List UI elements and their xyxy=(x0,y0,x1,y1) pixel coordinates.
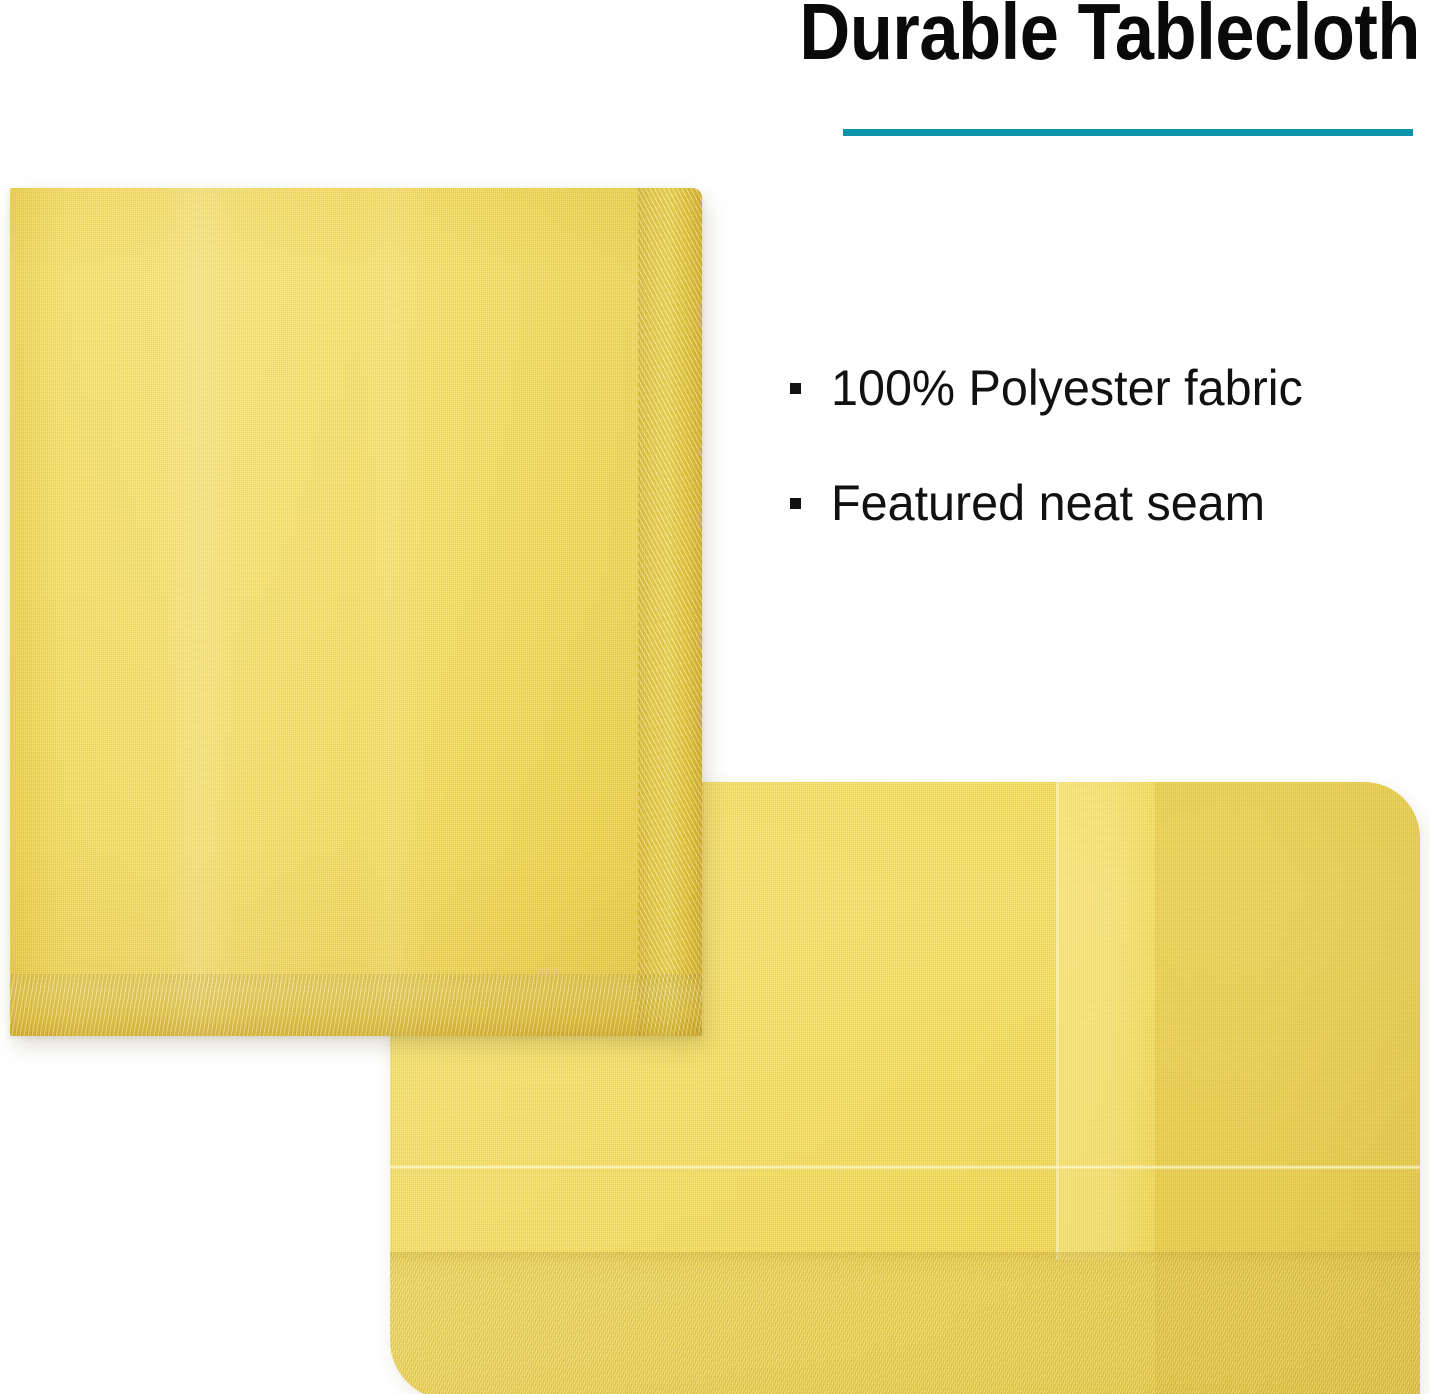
list-item: 100% Polyester fabric xyxy=(790,352,1410,424)
folded-spine-edge xyxy=(638,188,702,1036)
fabric-drape-creases xyxy=(10,188,702,1036)
feature-label: 100% Polyester fabric xyxy=(831,363,1303,413)
feature-list: 100% Polyester fabric Featured neat seam xyxy=(790,352,1410,582)
fabric-outer-shadow-band xyxy=(1155,782,1420,1394)
fabric-twill-texture xyxy=(638,188,702,1036)
fabric-twill-texture xyxy=(10,974,702,1036)
fabric-hem-highlight-panel xyxy=(1059,782,1155,1260)
feature-label: Featured neat seam xyxy=(831,478,1265,528)
square-bullet-icon xyxy=(790,383,801,394)
folded-bottom-roll-edge xyxy=(10,974,702,1036)
page-title: Durable Tablecloth xyxy=(663,0,1420,72)
fabric-twill-texture xyxy=(390,1252,1420,1394)
product-feature-image: Durable Tablecloth 100% Polyester fabric… xyxy=(0,0,1430,1394)
vertical-seam-line xyxy=(1055,782,1059,1260)
hem-fold-edge xyxy=(390,1252,1420,1394)
horizontal-seam-line xyxy=(390,1165,1420,1170)
list-item: Featured neat seam xyxy=(790,467,1410,539)
title-divider xyxy=(843,129,1413,136)
folded-tablecloth-photo xyxy=(10,188,702,1036)
fabric-weave-texture xyxy=(10,188,702,1036)
fabric-face-shading xyxy=(10,188,702,1036)
square-bullet-icon xyxy=(790,498,801,509)
